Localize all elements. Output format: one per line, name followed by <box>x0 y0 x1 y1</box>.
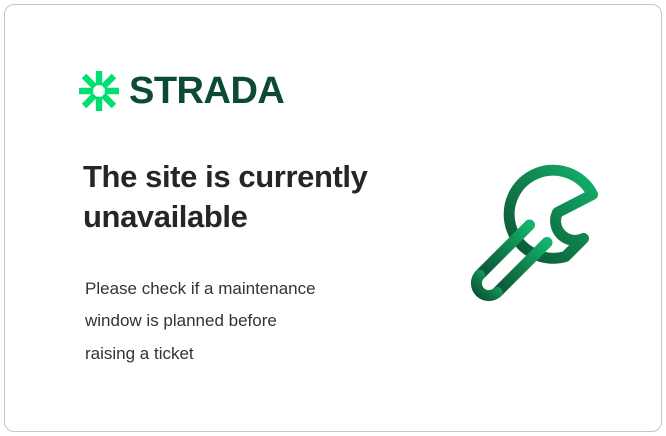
asterisk-star-icon <box>79 71 119 111</box>
error-page: STRADA The site is currently unavailable… <box>0 0 666 436</box>
brand-lockup: STRADA <box>79 71 284 111</box>
description-line-3: raising a ticket <box>85 338 385 370</box>
description-line-1: Please check if a maintenance <box>85 273 385 305</box>
maintenance-card: STRADA The site is currently unavailable… <box>4 4 662 432</box>
page-description: Please check if a maintenance window is … <box>85 273 385 370</box>
page-title: The site is currently unavailable <box>83 157 413 236</box>
brand-wordmark: STRADA <box>129 72 284 110</box>
description-line-2: window is planned before <box>85 305 385 337</box>
wrench-icon <box>461 157 613 313</box>
